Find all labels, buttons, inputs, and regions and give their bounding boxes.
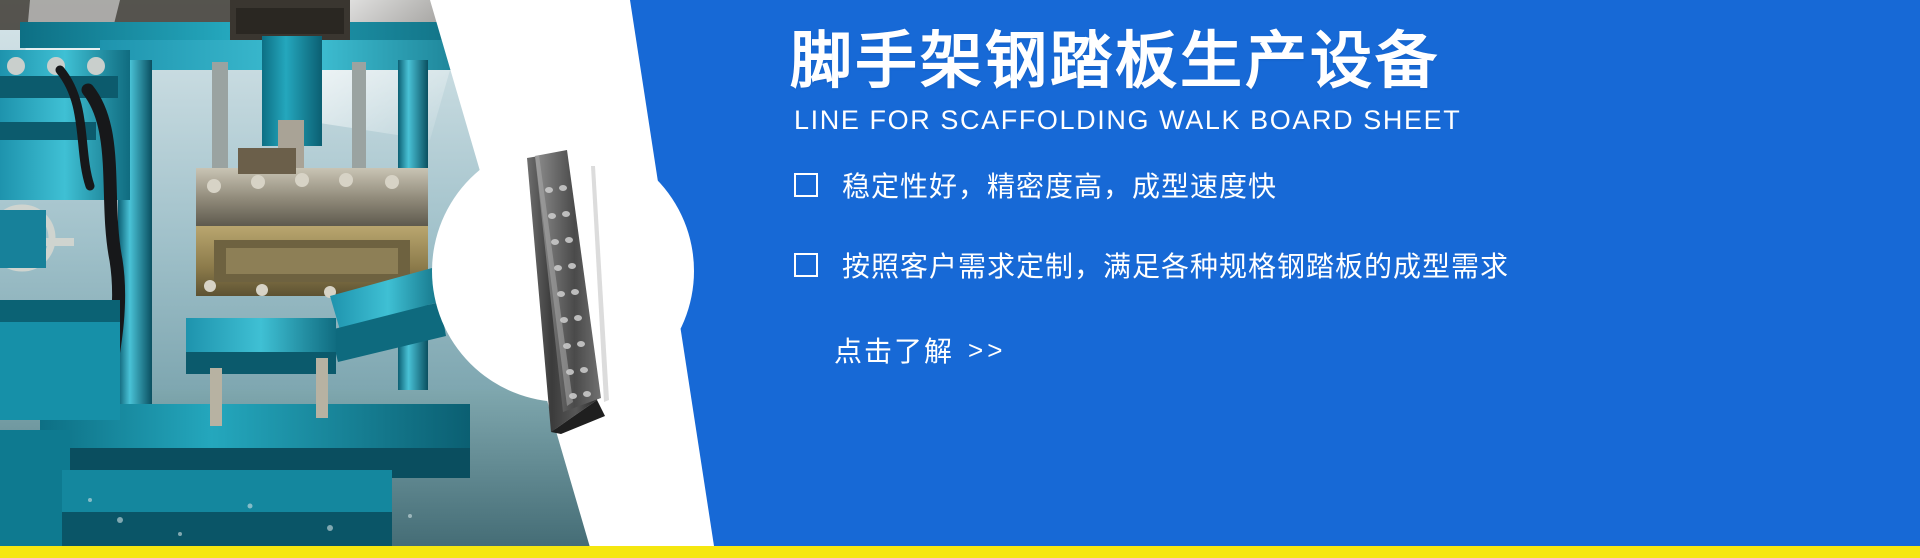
bottom-accent-strip	[0, 546, 1920, 558]
roll-forming-machine-photo	[0, 0, 790, 546]
double-chevron-right-icon: >>	[968, 335, 1006, 366]
banner-content: 脚手架钢踏板生产设备 LINE FOR SCAFFOLDING WALK BOA…	[790, 0, 1920, 546]
square-bullet-icon	[794, 253, 818, 277]
learn-more-label: 点击了解	[834, 330, 954, 370]
steel-walk-board-product	[505, 150, 635, 435]
page-title: 脚手架钢踏板生产设备	[790, 28, 1440, 96]
feature-list: 稳定性好，精密度高，成型速度快 按照客户需求定制，满足各种规格钢踏板的成型需求	[794, 165, 1894, 325]
feature-text: 按照客户需求定制，满足各种规格钢踏板的成型需求	[842, 245, 1509, 285]
feature-item: 按照客户需求定制，满足各种规格钢踏板的成型需求	[794, 245, 1894, 285]
page-subtitle: LINE FOR SCAFFOLDING WALK BOARD SHEET	[794, 105, 1461, 136]
promo-banner: 脚手架钢踏板生产设备 LINE FOR SCAFFOLDING WALK BOA…	[0, 0, 1920, 558]
square-bullet-icon	[794, 173, 818, 197]
feature-item: 稳定性好，精密度高，成型速度快	[794, 165, 1894, 205]
learn-more-button[interactable]: 点击了解 >>	[834, 330, 1006, 370]
feature-text: 稳定性好，精密度高，成型速度快	[842, 165, 1277, 205]
